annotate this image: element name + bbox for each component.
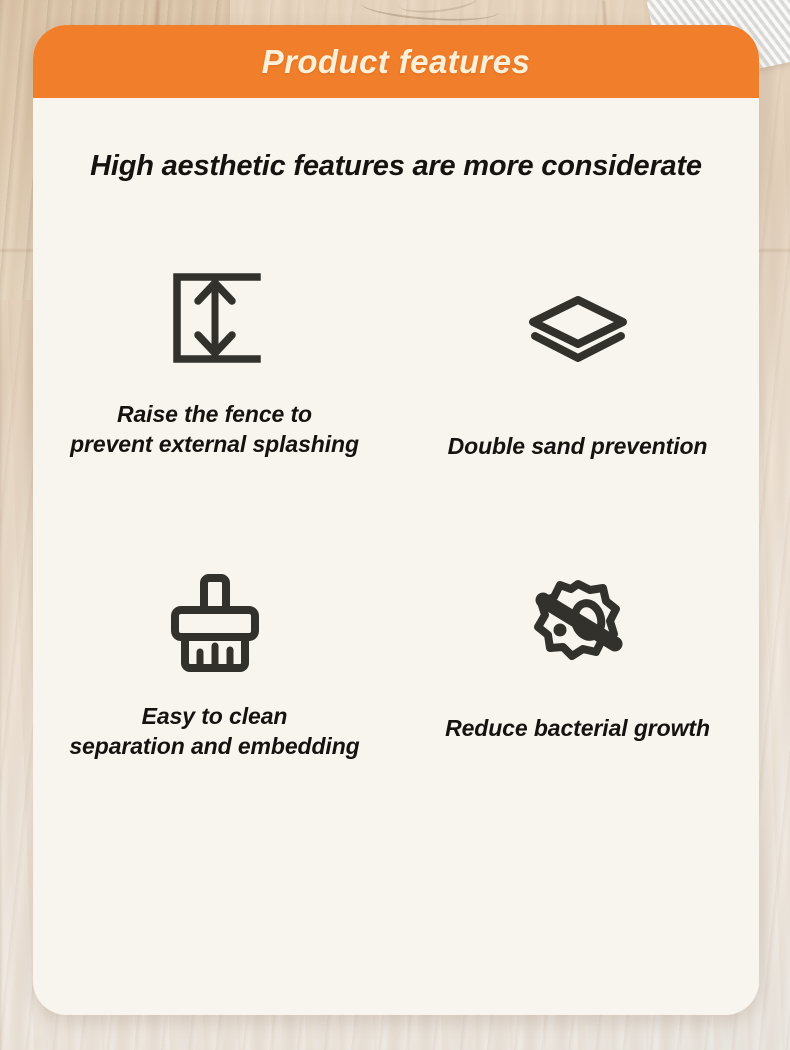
page-title: Product features: [262, 43, 531, 81]
section-heading: High aesthetic features are more conside…: [33, 150, 759, 183]
feature-item: Double sand prevention: [396, 245, 759, 565]
feature-caption: Reduce bacterial growth: [445, 713, 710, 743]
antibacterial-germ-icon: [524, 571, 632, 681]
feature-caption: Raise the fence to prevent external spla…: [70, 399, 359, 460]
feature-item: Reduce bacterial growth: [396, 565, 759, 885]
feature-caption: Easy to clean separation and embedding: [69, 701, 359, 762]
height-arrows-icon: [165, 263, 265, 373]
cleaning-brush-icon: [165, 569, 265, 679]
feature-item: Easy to clean separation and embedding: [33, 565, 396, 885]
card-header: Product features: [33, 25, 759, 98]
feature-item: Raise the fence to prevent external spla…: [33, 245, 396, 565]
feature-card: Product features High aesthetic features…: [33, 25, 759, 1015]
feature-caption: Double sand prevention: [448, 431, 708, 461]
card-body: High aesthetic features are more conside…: [33, 150, 759, 1015]
double-layers-icon: [526, 277, 630, 387]
feature-grid: Raise the fence to prevent external spla…: [33, 245, 759, 885]
